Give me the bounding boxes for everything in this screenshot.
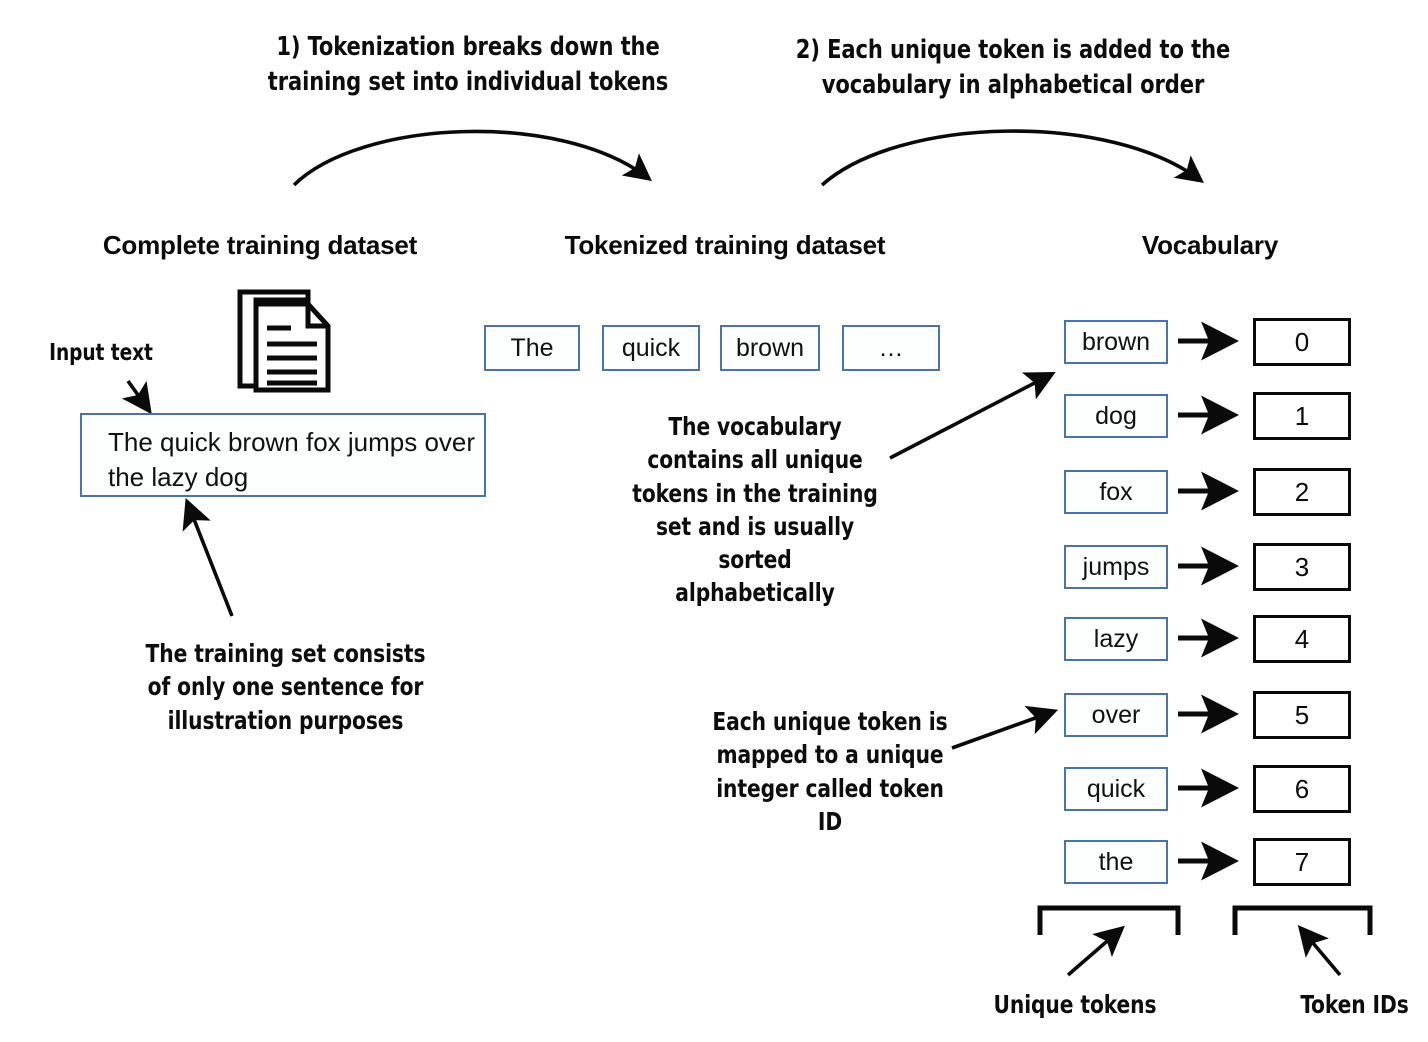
heading-tokenized-dataset: Tokenized training dataset [540, 230, 910, 261]
heading-vocabulary: Vocabulary [1095, 230, 1325, 261]
vocabulary-note: The vocabulary contains all unique token… [616, 410, 895, 610]
vocab-token-box[interactable]: jumps [1064, 545, 1168, 589]
token-id-box[interactable]: 0 [1253, 318, 1351, 366]
step-1-caption: 1) Tokenization breaks down the training… [252, 30, 684, 99]
token-id-box[interactable]: 3 [1253, 543, 1351, 591]
token-box-quick[interactable]: quick [602, 325, 700, 371]
token-id-box[interactable]: 2 [1253, 468, 1351, 516]
token-id-box[interactable]: 7 [1253, 838, 1351, 886]
vocab-token-box[interactable]: quick [1064, 767, 1168, 811]
vocab-token-box[interactable]: brown [1064, 320, 1168, 364]
token-id-box[interactable]: 5 [1253, 691, 1351, 739]
token-id-box[interactable]: 1 [1253, 392, 1351, 440]
token-box-the[interactable]: The [484, 325, 580, 371]
input-text-box[interactable]: The quick brown fox jumps over the lazy … [80, 413, 486, 497]
token-box-ellipsis[interactable]: … [842, 325, 940, 371]
step-2-caption: 2) Each unique token is added to the voc… [793, 33, 1234, 102]
input-text-label: Input text [34, 338, 169, 369]
token-id-box[interactable]: 4 [1253, 615, 1351, 663]
vocab-token-box[interactable]: over [1064, 693, 1168, 737]
token-box-brown[interactable]: brown [720, 325, 820, 371]
unique-tokens-label: Unique tokens [990, 988, 1161, 1021]
vocab-token-box[interactable]: lazy [1064, 617, 1168, 661]
diagram-canvas: 1) Tokenization breaks down the training… [0, 0, 1428, 1042]
token-ids-label: Token IDs [1289, 988, 1420, 1021]
token-id-note: Each unique token is mapped to a unique … [704, 705, 956, 838]
heading-complete-dataset: Complete training dataset [80, 230, 440, 261]
training-set-note: The training set consists of only one se… [135, 637, 437, 737]
vocab-token-box[interactable]: dog [1064, 394, 1168, 438]
vocab-token-box[interactable]: the [1064, 840, 1168, 884]
vocab-token-box[interactable]: fox [1064, 470, 1168, 514]
token-id-box[interactable]: 6 [1253, 765, 1351, 813]
documents-icon [234, 288, 336, 396]
